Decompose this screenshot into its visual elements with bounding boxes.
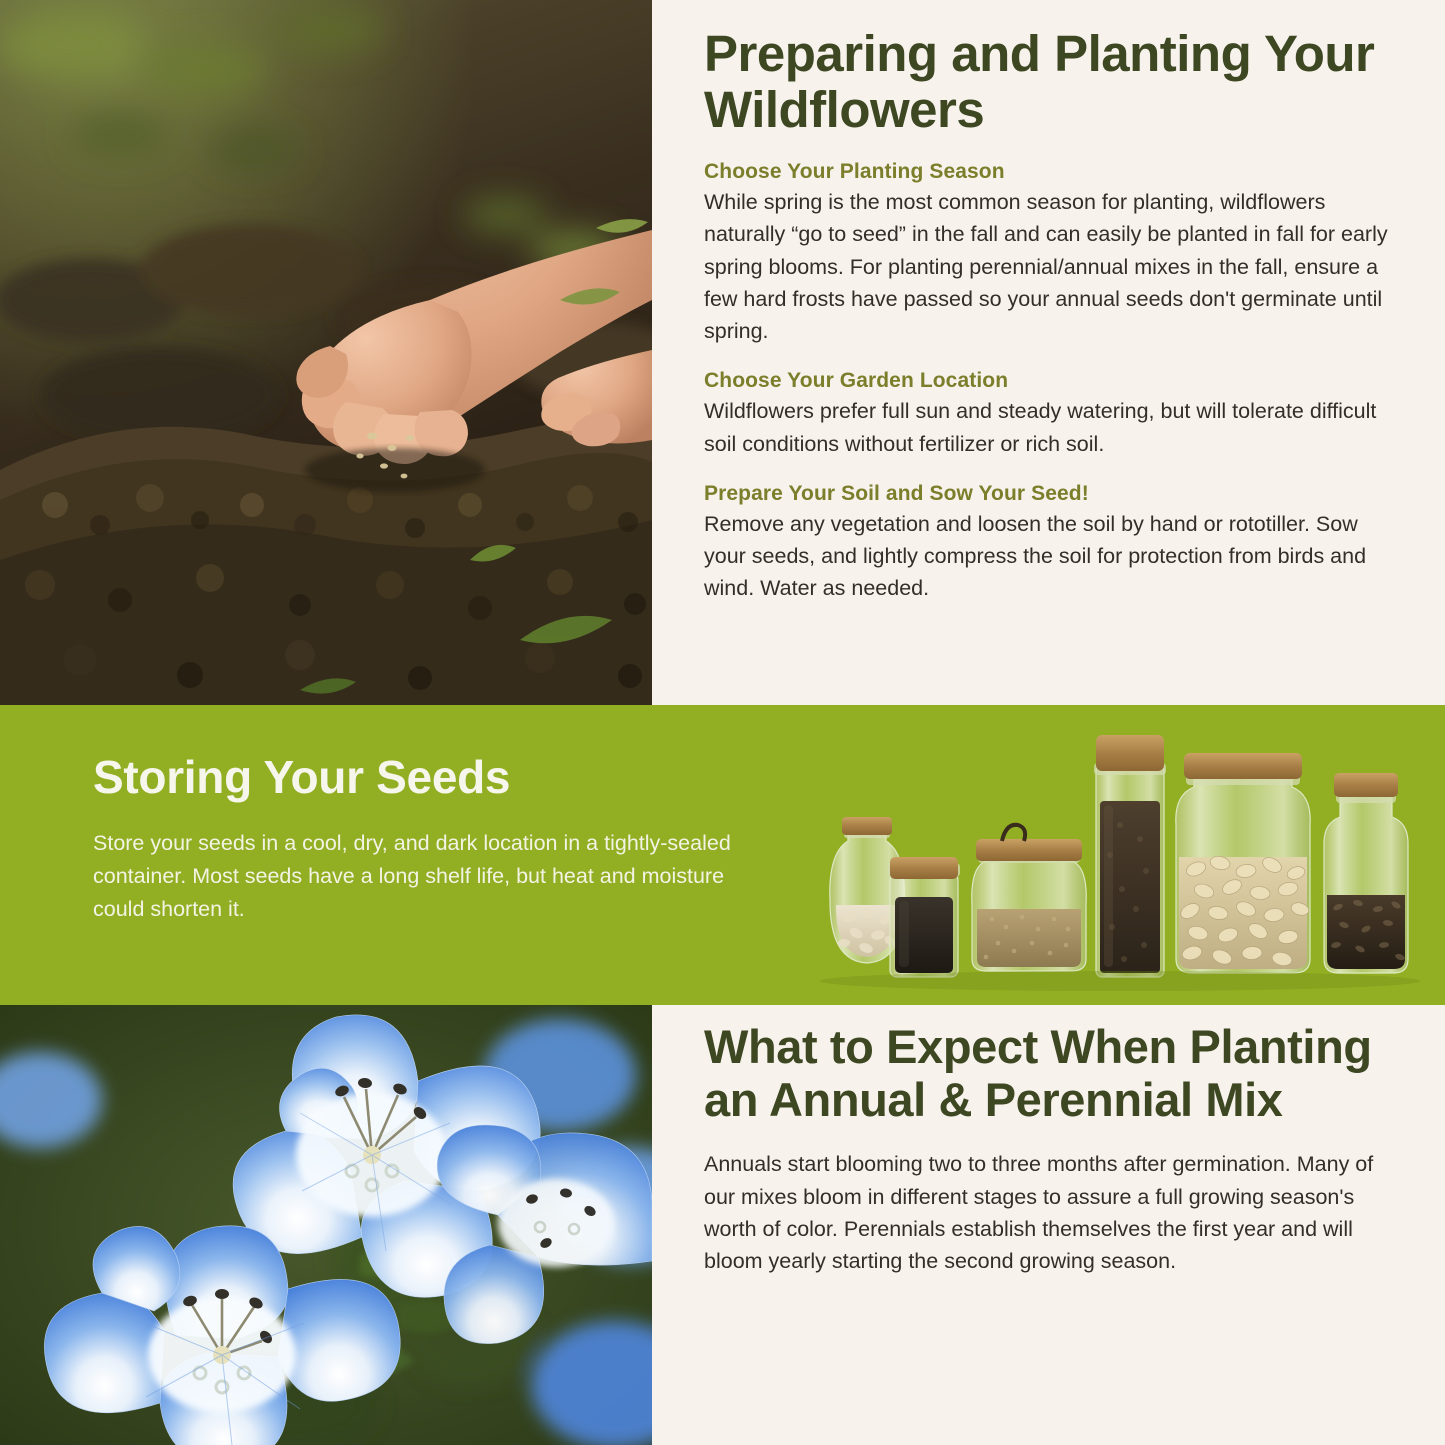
storing-title: Storing Your Seeds — [93, 753, 733, 801]
paragraph-planting-season: While spring is the most common season f… — [704, 186, 1389, 347]
seed-jars-photo — [800, 705, 1445, 1005]
expect-text-column: What to Expect When Planting an Annual &… — [652, 1005, 1445, 1445]
expect-paragraph: Annuals start blooming two to three mont… — [704, 1148, 1389, 1277]
paragraph-prepare-soil: Remove any vegetation and loosen the soi… — [704, 508, 1389, 605]
subheading-garden-location: Choose Your Garden Location — [704, 369, 1389, 393]
storing-seeds-section: Storing Your Seeds Store your seeds in a… — [0, 705, 1445, 1005]
what-to-expect-section: What to Expect When Planting an Annual &… — [0, 1005, 1445, 1445]
soil-planting-photo — [0, 0, 652, 705]
infographic-page: Preparing and Planting Your Wildflowers … — [0, 0, 1445, 1445]
planting-text-column: Preparing and Planting Your Wildflowers … — [652, 0, 1445, 705]
expect-title: What to Expect When Planting an Annual &… — [704, 1021, 1389, 1126]
storing-text-block: Storing Your Seeds Store your seeds in a… — [93, 753, 733, 925]
storing-paragraph: Store your seeds in a cool, dry, and dar… — [93, 827, 733, 925]
page-title: Preparing and Planting Your Wildflowers — [704, 26, 1389, 138]
planting-section: Preparing and Planting Your Wildflowers … — [0, 0, 1445, 705]
subheading-planting-season: Choose Your Planting Season — [704, 160, 1389, 184]
blue-wildflower-photo — [0, 1005, 652, 1445]
paragraph-garden-location: Wildflowers prefer full sun and steady w… — [704, 395, 1389, 460]
subheading-prepare-soil: Prepare Your Soil and Sow Your Seed! — [704, 482, 1389, 506]
